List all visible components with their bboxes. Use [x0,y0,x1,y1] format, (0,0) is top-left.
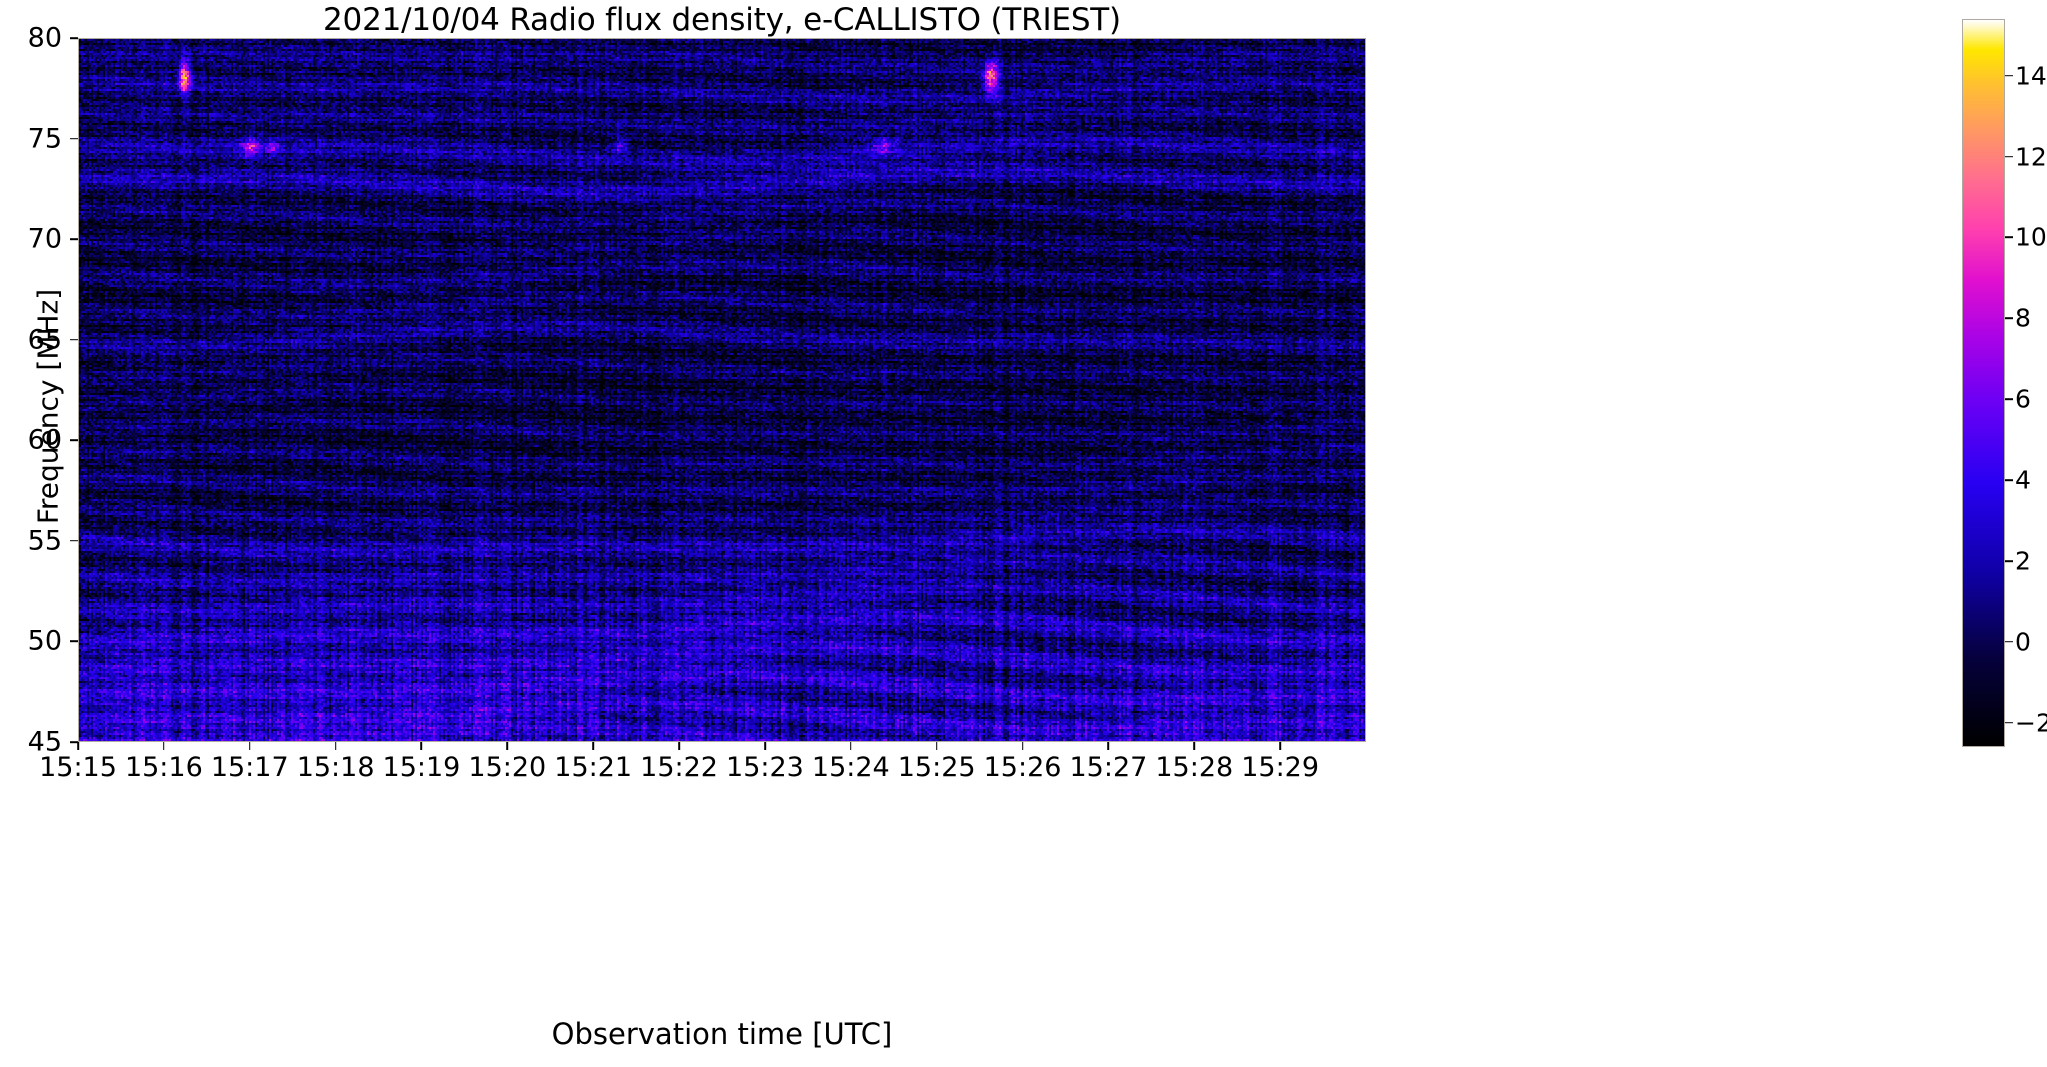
y-tick-mark [70,540,78,542]
y-tick-label: 45 [0,727,62,758]
chart-title: 2021/10/04 Radio flux density, e-CALLIST… [78,2,1366,38]
y-axis-label: Frequency [MHz] [32,127,65,687]
x-tick-mark [1279,742,1281,750]
colorbar-tick-mark [2005,722,2013,724]
colorbar-tick-mark [2005,560,2013,562]
y-tick-mark [70,238,78,240]
colorbar-tick-label: 14 [2015,61,2047,90]
x-tick-mark [249,742,251,750]
spectrogram-image[interactable] [79,39,1366,742]
x-tick-label: 15:29 [1241,752,1319,783]
colorbar-tick-mark [2005,237,2013,239]
y-tick-mark [70,339,78,341]
x-tick-mark [592,742,594,750]
x-tick-mark [163,742,165,750]
colorbar-tick-mark [2005,156,2013,158]
x-tick-label: 15:16 [125,752,203,783]
x-tick-label: 15:20 [468,752,546,783]
spectrogram-axes[interactable] [78,38,1366,742]
colorbar-tick-label: 12 [2015,142,2047,171]
colorbar-tick-mark [2005,75,2013,77]
x-tick-label: 15:23 [726,752,804,783]
colorbar-tick-label: 6 [2015,385,2031,414]
y-tick-mark [70,641,78,643]
colorbar-tick-label: 0 [2015,627,2031,656]
x-tick-label: 15:18 [297,752,375,783]
x-tick-label: 15:25 [898,752,976,783]
colorbar-tick-mark [2005,479,2013,481]
colorbar-gradient [1963,20,2004,746]
x-tick-label: 15:15 [39,752,117,783]
x-axis-label: Observation time [UTC] [78,1017,1366,1051]
x-tick-label: 15:22 [640,752,718,783]
x-tick-label: 15:19 [383,752,461,783]
x-tick-mark [1108,742,1110,750]
x-tick-mark [764,742,766,750]
x-tick-label: 15:27 [1069,752,1147,783]
colorbar-tick-mark [2005,398,2013,400]
colorbar-tick-mark [2005,317,2013,319]
x-tick-mark [421,742,423,750]
colorbar[interactable] [1962,19,2005,747]
colorbar-tick-label: 2 [2015,546,2031,575]
colorbar-tick-label: 10 [2015,223,2047,252]
colorbar-tick-label: −2 [2015,708,2047,737]
y-tick-label: 80 [0,23,62,54]
x-tick-mark [1022,742,1024,750]
x-tick-label: 15:17 [211,752,289,783]
x-tick-mark [507,742,509,750]
colorbar-tick-label: 4 [2015,466,2031,495]
x-tick-label: 15:24 [812,752,890,783]
y-tick-mark [70,439,78,441]
x-tick-label: 15:21 [554,752,632,783]
y-tick-mark [70,138,78,140]
x-tick-mark [335,742,337,750]
x-tick-mark [850,742,852,750]
colorbar-tick-mark [2005,641,2013,643]
x-tick-label: 15:28 [1155,752,1233,783]
x-tick-mark [678,742,680,750]
x-tick-mark [1193,742,1195,750]
y-tick-mark [70,741,78,743]
figure-canvas: 2021/10/04 Radio flux density, e-CALLIST… [0,0,2047,1067]
y-tick-mark [70,37,78,39]
x-tick-label: 15:26 [984,752,1062,783]
colorbar-tick-label: 8 [2015,304,2031,333]
x-tick-mark [77,742,79,750]
x-tick-mark [936,742,938,750]
